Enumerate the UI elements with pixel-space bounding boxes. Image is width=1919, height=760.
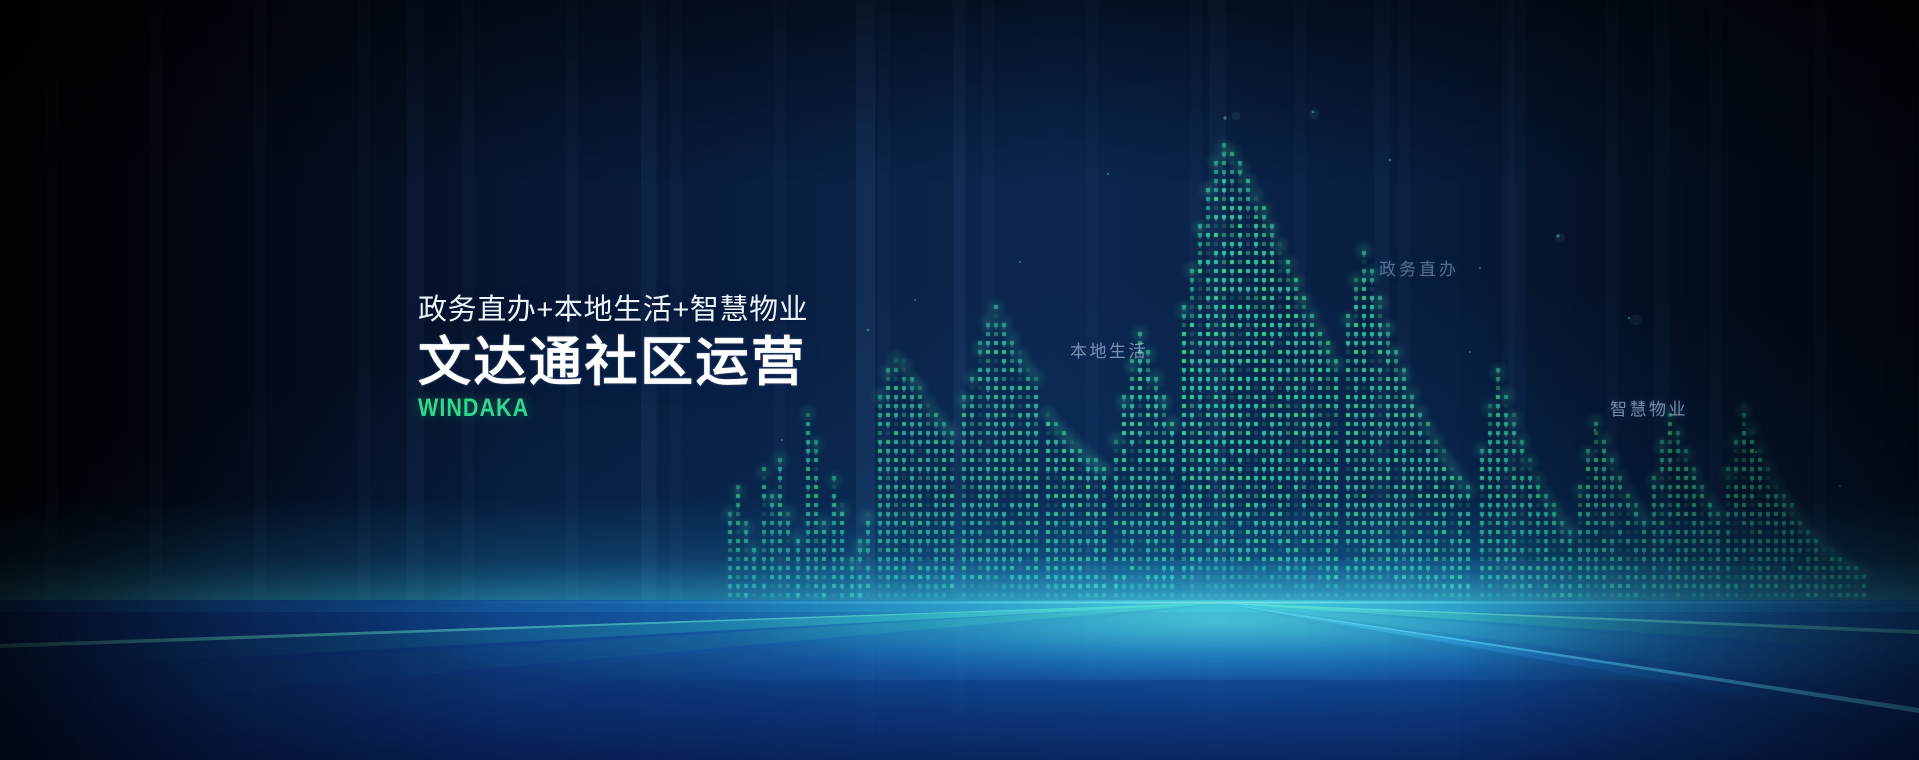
banner-subtitle: 政务直办+本地生活+智慧物业 xyxy=(418,292,808,328)
dot-matrix-skyline xyxy=(0,0,1919,612)
brand-wordmark: WINDAKA xyxy=(418,395,754,423)
ground-ray-bands xyxy=(0,600,1919,760)
tag-smart-property: 智慧物业 xyxy=(1610,395,1688,420)
headline-block: 政务直办+本地生活+智慧物业 文达通社区运营 WINDAKA xyxy=(418,292,808,423)
banner-headline: 文达通社区运营 xyxy=(418,334,808,391)
perspective-ground xyxy=(0,600,1919,760)
tag-local-life: 本地生活 xyxy=(1070,337,1148,362)
tag-gov-service: 政务直办 xyxy=(1379,255,1459,280)
hero-banner: 本地生活 政务直办 智慧物业 政务直办+本地生活+智慧物业 文达通社区运营 WI… xyxy=(0,0,1919,760)
